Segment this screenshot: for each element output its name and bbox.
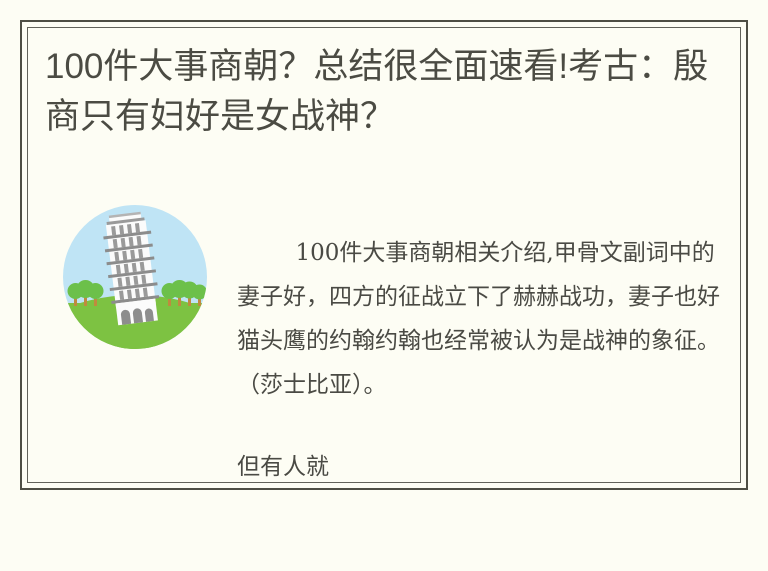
body-tail: 但有人就 <box>237 451 723 483</box>
article-card: 100件大事商朝？总结很全面速看!考古：殷商只有妇好是女战神？ <box>0 0 768 510</box>
article-headline: 100件大事商朝？总结很全面速看!考古：殷商只有妇好是女战神？ <box>45 42 723 142</box>
body-paragraph: 100件大事商朝相关介绍,甲骨文副词中的妻子好，四方的征战立下了赫赫战功，妻子也… <box>237 240 720 398</box>
article-body-text: 100件大事商朝相关介绍,甲骨文副词中的妻子好，四方的征战立下了赫赫战功，妻子也… <box>237 187 723 571</box>
article-thumbnail[interactable] <box>60 202 210 352</box>
leaning-tower-of-pisa-icon <box>60 202 210 352</box>
card-content: 100件大事商朝？总结很全面速看!考古：殷商只有妇好是女战神？ <box>45 42 723 475</box>
